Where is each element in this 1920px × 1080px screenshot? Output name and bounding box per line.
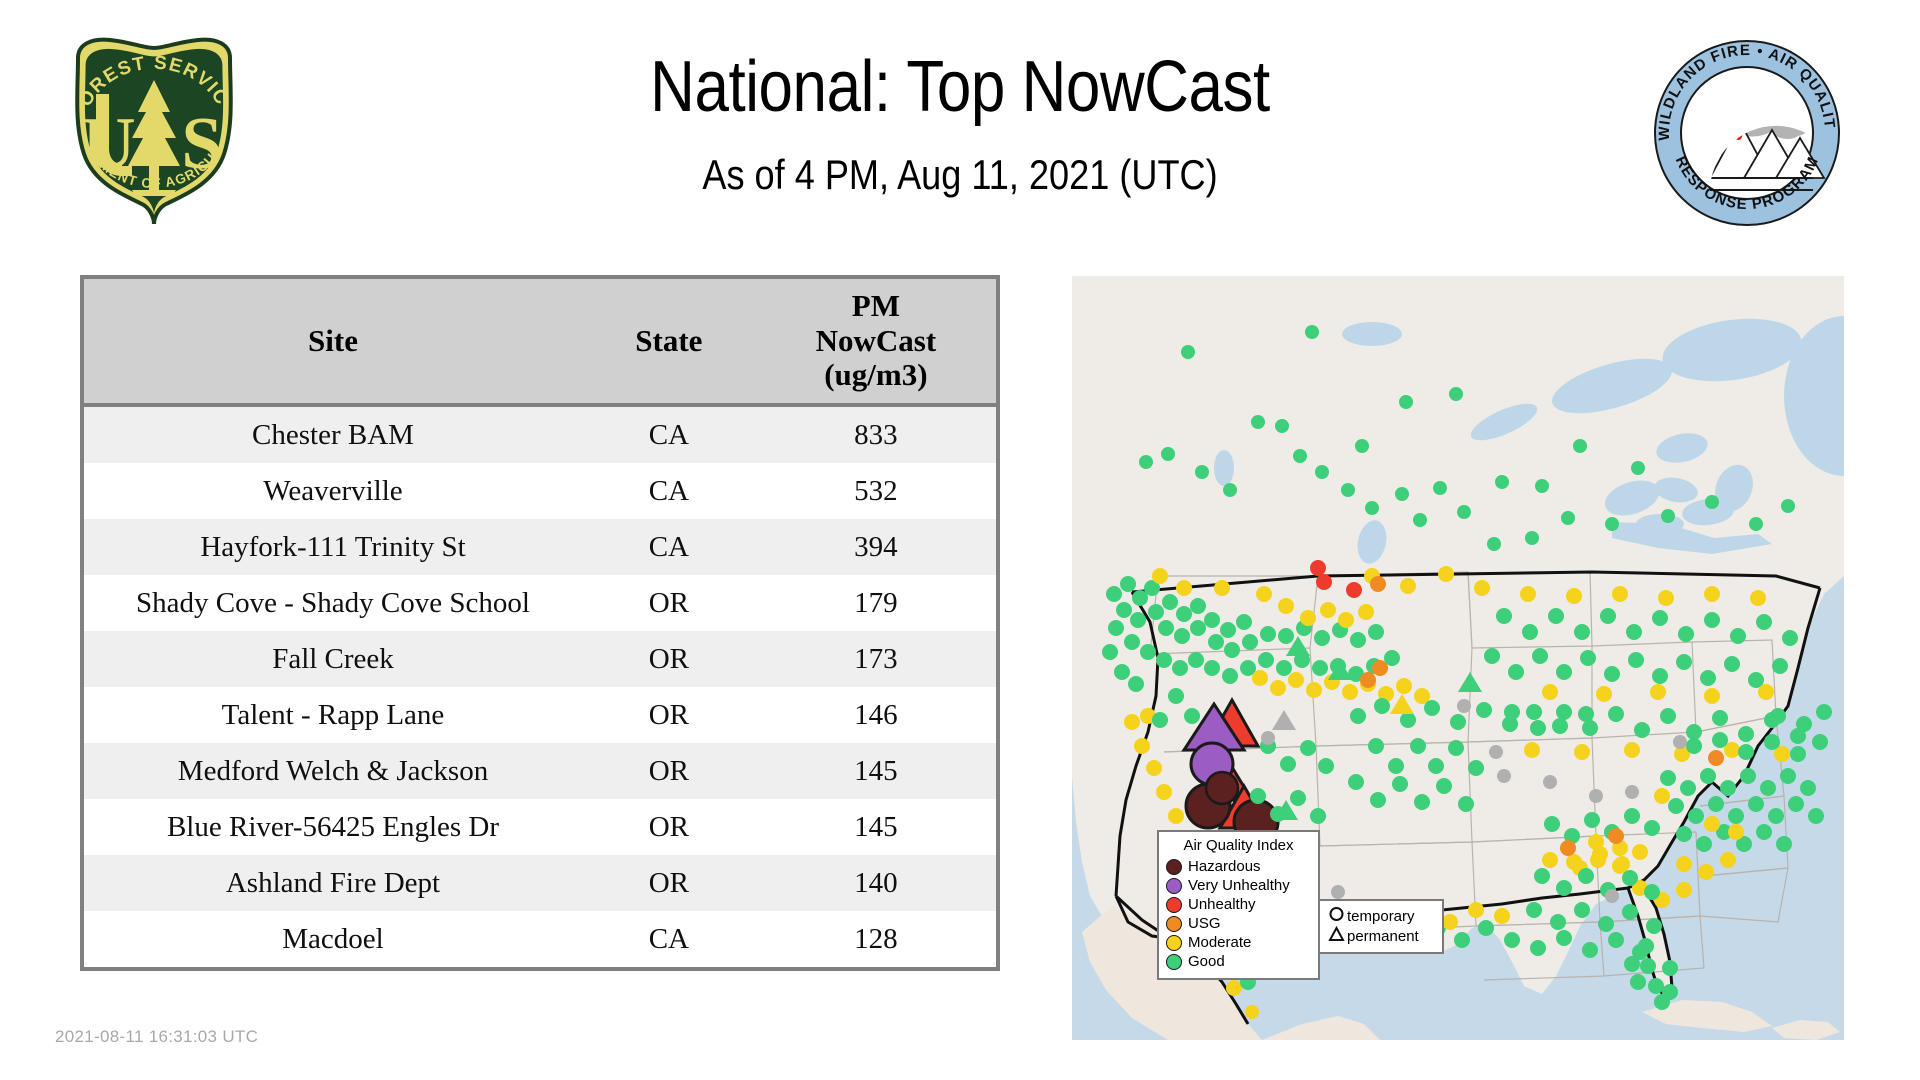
aqi-swatch-icon <box>1166 878 1182 894</box>
aqi-legend-row: Very Unhealthy <box>1166 876 1311 895</box>
cell-pm-nowcast: 128 <box>756 911 998 969</box>
top-nowcast-table-container: Site State PM NowCast (ug/m3) Chester BA… <box>80 275 1000 971</box>
cell-site: Weaverville <box>82 463 582 519</box>
table-row: Talent - Rapp LaneOR146 <box>82 687 998 743</box>
aqi-legend-row: Moderate <box>1166 933 1311 952</box>
legend-row-permanent: permanent <box>1328 926 1436 946</box>
table-header-row: Site State PM NowCast (ug/m3) <box>82 277 998 405</box>
aqi-swatch-icon <box>1166 935 1182 951</box>
aqi-legend-title: Air Quality Index <box>1166 837 1311 854</box>
cell-pm-nowcast: 145 <box>756 743 998 799</box>
legend-row-temporary: temporary <box>1328 906 1436 926</box>
cell-pm-nowcast: 140 <box>756 855 998 911</box>
top-nowcast-table: Site State PM NowCast (ug/m3) Chester BA… <box>80 275 1000 971</box>
aqi-legend: Air Quality Index HazardousVery Unhealth… <box>1157 830 1320 980</box>
aqi-legend-label: Hazardous <box>1188 859 1261 874</box>
aqi-legend-label: Good <box>1188 954 1225 969</box>
footer-timestamp: 2021-08-11 16:31:03 UTC <box>55 1027 258 1047</box>
cell-pm-nowcast: 532 <box>756 463 998 519</box>
legend-label-temporary: temporary <box>1347 908 1415 925</box>
cell-state: OR <box>582 631 756 687</box>
wildland-fire-air-quality-seal-logo: WILDLAND FIRE • AIR QUALITY RESPONSE PRO… <box>1652 38 1842 228</box>
usda-forest-service-shield-logo: U S FOREST SERVICE DEPARTMENT OF AGRICUL… <box>52 28 257 233</box>
cell-pm-nowcast: 173 <box>756 631 998 687</box>
aqi-legend-label: USG <box>1188 916 1221 931</box>
page-subtitle: As of 4 PM, Aug 11, 2021 (UTC) <box>392 151 1527 199</box>
table-row: Hayfork-111 Trinity StCA394 <box>82 519 998 575</box>
cell-state: OR <box>582 855 756 911</box>
aqi-swatch-icon <box>1166 916 1182 932</box>
cell-state: OR <box>582 743 756 799</box>
cell-site: Talent - Rapp Lane <box>82 687 582 743</box>
aqi-legend-label: Very Unhealthy <box>1188 878 1290 893</box>
table-row: Shady Cove - Shady Cove SchoolOR179 <box>82 575 998 631</box>
cell-pm-nowcast: 394 <box>756 519 998 575</box>
cell-state: CA <box>582 519 756 575</box>
cell-pm-nowcast: 146 <box>756 687 998 743</box>
cell-site: Ashland Fire Dept <box>82 855 582 911</box>
cell-site: Fall Creek <box>82 631 582 687</box>
cell-site: Macdoel <box>82 911 582 969</box>
cell-site: Hayfork-111 Trinity St <box>82 519 582 575</box>
cell-state: OR <box>582 687 756 743</box>
cell-state: OR <box>582 799 756 855</box>
title-block: National: Top NowCast As of 4 PM, Aug 11… <box>300 48 1620 199</box>
page-title: National: Top NowCast <box>392 48 1527 127</box>
aqi-swatch-icon <box>1166 859 1182 875</box>
table-row: MacdoelCA128 <box>82 911 998 969</box>
legend-label-permanent: permanent <box>1347 928 1419 945</box>
table-row: WeavervilleCA532 <box>82 463 998 519</box>
cell-site: Medford Welch & Jackson <box>82 743 582 799</box>
column-header-pm-line2: NowCast <box>760 324 992 359</box>
column-header-pm-line1: PM <box>760 289 992 324</box>
cell-state: OR <box>582 575 756 631</box>
table-body: Chester BAMCA833WeavervilleCA532Hayfork-… <box>82 405 998 969</box>
cell-pm-nowcast: 179 <box>756 575 998 631</box>
aqi-legend-row: Unhealthy <box>1166 895 1311 914</box>
circle-outline-icon <box>1328 905 1347 927</box>
aqi-legend-items: HazardousVery UnhealthyUnhealthyUSGModer… <box>1166 857 1311 971</box>
aqi-legend-label: Unhealthy <box>1188 897 1256 912</box>
aqi-swatch-icon <box>1166 954 1182 970</box>
table-row: Ashland Fire DeptOR140 <box>82 855 998 911</box>
cell-state: CA <box>582 463 756 519</box>
aqi-legend-row: USG <box>1166 914 1311 933</box>
cell-state: CA <box>582 911 756 969</box>
column-header-site: Site <box>82 277 582 405</box>
aqi-swatch-icon <box>1166 897 1182 913</box>
column-header-pm-nowcast: PM NowCast (ug/m3) <box>756 277 998 405</box>
cell-site: Chester BAM <box>82 405 582 463</box>
cell-pm-nowcast: 833 <box>756 405 998 463</box>
table-row: Fall CreekOR173 <box>82 631 998 687</box>
aqi-legend-row: Hazardous <box>1166 857 1311 876</box>
table-head: Site State PM NowCast (ug/m3) <box>82 277 998 405</box>
cell-site: Shady Cove - Shady Cove School <box>82 575 582 631</box>
table-row: Chester BAMCA833 <box>82 405 998 463</box>
page-header: U S FOREST SERVICE DEPARTMENT OF AGRICUL… <box>0 0 1920 270</box>
aqi-legend-row: Good <box>1166 952 1311 971</box>
monitor-type-legend: temporary permanent <box>1318 899 1444 954</box>
table-row: Medford Welch & JacksonOR145 <box>82 743 998 799</box>
cell-state: CA <box>582 405 756 463</box>
column-header-pm-line3: (ug/m3) <box>760 358 992 393</box>
table-row: Blue River-56425 Engles DrOR145 <box>82 799 998 855</box>
aqi-legend-label: Moderate <box>1188 935 1251 950</box>
cell-site: Blue River-56425 Engles Dr <box>82 799 582 855</box>
cell-pm-nowcast: 145 <box>756 799 998 855</box>
column-header-state: State <box>582 277 756 405</box>
triangle-outline-icon <box>1328 925 1347 947</box>
